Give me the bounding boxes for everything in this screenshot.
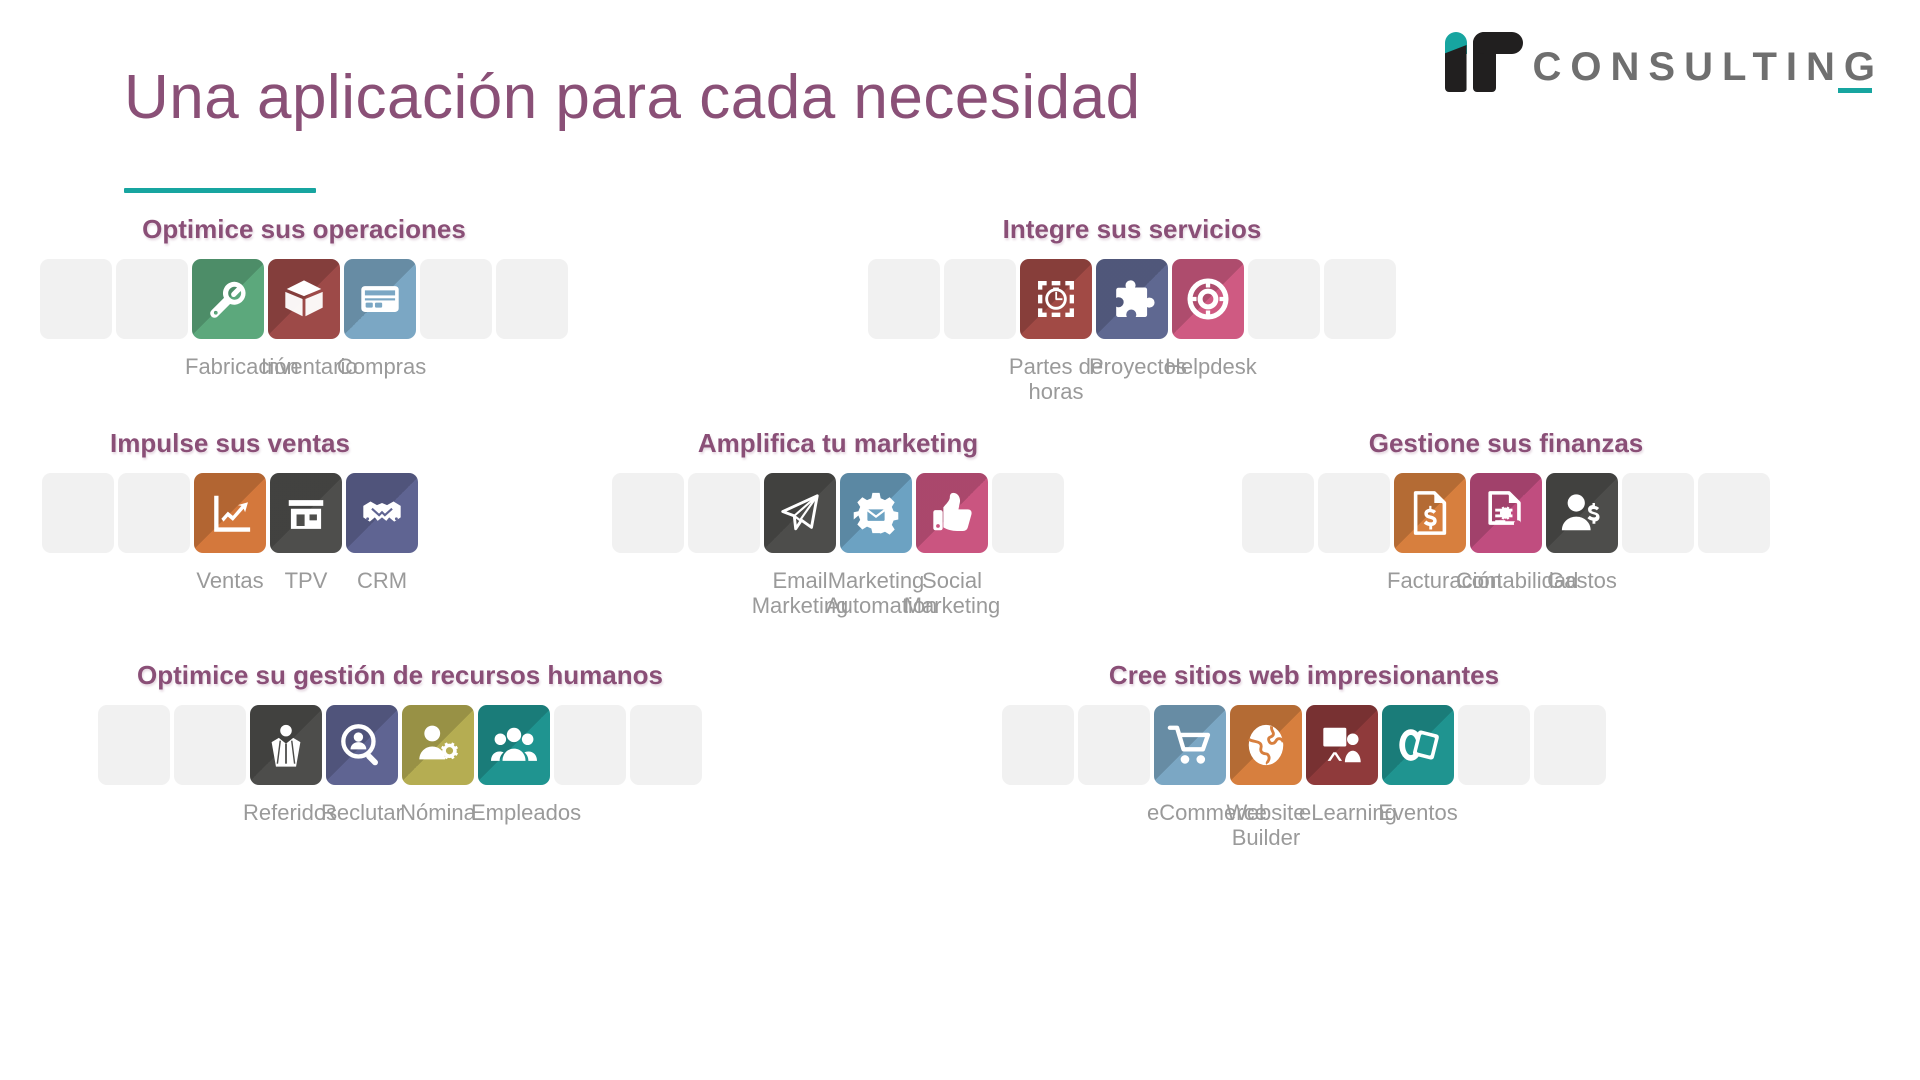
event-ticket-icon xyxy=(1395,722,1441,768)
placeholder-tile xyxy=(612,473,684,553)
app-tile-strip: Partes de horasProyectosHelpdesk xyxy=(866,259,1398,404)
placeholder-tile xyxy=(992,473,1064,553)
globe-icon xyxy=(1243,722,1289,768)
app-tile[interactable] xyxy=(1020,259,1092,339)
app-group: Integre sus serviciosPartes de horasProy… xyxy=(866,214,1398,404)
people-group-icon xyxy=(491,722,537,768)
app-cell[interactable]: Reclutar xyxy=(324,705,400,826)
app-cell[interactable]: Social Marketing xyxy=(914,473,990,618)
app-cell[interactable]: CRM xyxy=(344,473,420,594)
app-group: Gestione sus finanzasFacturaciónContabil… xyxy=(1240,428,1772,594)
group-title: Impulse sus ventas xyxy=(40,428,420,459)
placeholder-tile-cell xyxy=(628,705,704,785)
placeholder-tile-cell xyxy=(1696,473,1772,553)
placeholder-tile xyxy=(496,259,568,339)
app-cell[interactable]: TPV xyxy=(268,473,344,594)
app-label: Fabricación xyxy=(185,355,271,380)
app-tile-strip: FabricaciónInventarioCompras xyxy=(38,259,570,380)
group-title: Optimice sus operaciones xyxy=(38,214,570,245)
app-cell[interactable]: Fabricación xyxy=(190,259,266,380)
app-group: Impulse sus ventasVentasTPVCRM xyxy=(40,428,420,594)
person-search-icon xyxy=(339,722,385,768)
app-group: Amplifica tu marketingEmail MarketingMar… xyxy=(610,428,1066,618)
placeholder-tile-cell xyxy=(1076,705,1152,785)
app-cell[interactable]: Nómina xyxy=(400,705,476,826)
app-label: Empleados xyxy=(471,801,557,826)
wrench-icon xyxy=(205,276,251,322)
app-tile[interactable] xyxy=(268,259,340,339)
app-group: Cree sitios web impresionanteseCommerceW… xyxy=(1000,660,1608,850)
app-cell[interactable]: Inventario xyxy=(266,259,342,380)
app-tile[interactable] xyxy=(1230,705,1302,785)
thumbs-up-icon xyxy=(929,490,975,536)
placeholder-tile-cell xyxy=(1246,259,1322,339)
app-label: Eventos xyxy=(1375,801,1461,826)
page-title: Una aplicación para cada necesidad xyxy=(124,62,1141,133)
logo-underline-accent xyxy=(1838,88,1872,93)
life-ring-icon xyxy=(1185,276,1231,322)
app-tile[interactable] xyxy=(916,473,988,553)
placeholder-tile-cell xyxy=(1240,473,1316,553)
app-label: Social Marketing xyxy=(902,569,1002,618)
placeholder-tile xyxy=(420,259,492,339)
app-tile[interactable] xyxy=(250,705,322,785)
placeholder-tile-cell xyxy=(114,259,190,339)
person-gear-icon xyxy=(415,722,461,768)
app-tile-strip: eCommerceWebsite BuildereLearningEventos xyxy=(1000,705,1608,850)
app-tile[interactable] xyxy=(326,705,398,785)
growth-chart-icon xyxy=(207,490,253,536)
placeholder-tile xyxy=(174,705,246,785)
app-label: Nómina xyxy=(395,801,481,826)
logo-wordmark: CONSULTING xyxy=(1533,48,1884,92)
placeholder-tile-cell xyxy=(418,259,494,339)
person-dollar-icon xyxy=(1559,490,1605,536)
placeholder-tile-cell xyxy=(610,473,686,553)
app-label: Compras xyxy=(337,355,423,380)
app-label: CRM xyxy=(339,569,425,594)
app-tile[interactable] xyxy=(270,473,342,553)
group-title: Gestione sus finanzas xyxy=(1240,428,1772,459)
placeholder-tile-cell xyxy=(1620,473,1696,553)
placeholder-tile xyxy=(116,259,188,339)
app-cell[interactable]: Website Builder xyxy=(1228,705,1304,850)
app-tile[interactable] xyxy=(1306,705,1378,785)
handshake-icon xyxy=(359,490,405,536)
placeholder-tile xyxy=(118,473,190,553)
placeholder-tile-cell xyxy=(40,473,116,553)
placeholder-tile-cell xyxy=(686,473,762,553)
placeholder-tile xyxy=(1698,473,1770,553)
app-tile[interactable] xyxy=(764,473,836,553)
app-tile[interactable] xyxy=(1172,259,1244,339)
placeholder-tile xyxy=(1534,705,1606,785)
invoice-dollar-icon xyxy=(1407,490,1453,536)
app-label: Inventario xyxy=(261,355,347,380)
placeholder-tile-cell xyxy=(1322,259,1398,339)
placeholder-tile xyxy=(98,705,170,785)
logo-t-top xyxy=(1473,32,1523,54)
app-tile[interactable] xyxy=(194,473,266,553)
app-group: Optimice sus operacionesFabricaciónInven… xyxy=(38,214,570,380)
document-gear-icon xyxy=(1483,490,1529,536)
group-title: Amplifica tu marketing xyxy=(610,428,1066,459)
shop-front-icon xyxy=(283,490,329,536)
stopwatch-frame-icon xyxy=(1033,276,1079,322)
app-cell[interactable]: Gastos xyxy=(1544,473,1620,594)
app-tile[interactable] xyxy=(1096,259,1168,339)
app-label: TPV xyxy=(263,569,349,594)
app-label: Gastos xyxy=(1539,569,1625,594)
app-cell[interactable]: Eventos xyxy=(1380,705,1456,826)
placeholder-tile xyxy=(630,705,702,785)
placeholder-tile-cell xyxy=(1532,705,1608,785)
app-cell[interactable]: Referidos xyxy=(248,705,324,826)
placeholder-tile-cell xyxy=(38,259,114,339)
app-tile[interactable] xyxy=(346,473,418,553)
placeholder-tile xyxy=(554,705,626,785)
group-title: Integre sus servicios xyxy=(866,214,1398,245)
app-tile-strip: ReferidosReclutarNóminaEmpleados xyxy=(96,705,704,826)
placeholder-tile xyxy=(40,259,112,339)
app-label: Helpdesk xyxy=(1165,355,1251,380)
app-label: Reclutar xyxy=(319,801,405,826)
app-label: eLearning xyxy=(1299,801,1385,826)
app-label: Referidos xyxy=(243,801,329,826)
credit-card-icon xyxy=(357,276,403,322)
app-tile[interactable] xyxy=(1154,705,1226,785)
placeholder-tile xyxy=(944,259,1016,339)
gear-envelope-icon xyxy=(853,490,899,536)
app-tile[interactable] xyxy=(840,473,912,553)
paper-plane-icon xyxy=(777,490,823,536)
placeholder-tile xyxy=(42,473,114,553)
placeholder-tile-cell xyxy=(96,705,172,785)
it-logo-mark xyxy=(1443,28,1523,92)
placeholder-tile xyxy=(1458,705,1530,785)
app-cell[interactable]: Compras xyxy=(342,259,418,380)
app-tile[interactable] xyxy=(1546,473,1618,553)
app-tile[interactable] xyxy=(192,259,264,339)
app-cell[interactable]: eLearning xyxy=(1304,705,1380,826)
app-label: Proyectos xyxy=(1089,355,1175,380)
app-cell[interactable]: Empleados xyxy=(476,705,552,826)
app-tile[interactable] xyxy=(1382,705,1454,785)
superhero-cape-icon xyxy=(263,722,309,768)
placeholder-tile-cell xyxy=(990,473,1066,553)
placeholder-tile xyxy=(1324,259,1396,339)
app-tile[interactable] xyxy=(402,705,474,785)
placeholder-tile xyxy=(688,473,760,553)
placeholder-tile-cell xyxy=(942,259,1018,339)
placeholder-tile xyxy=(1622,473,1694,553)
placeholder-tile-cell xyxy=(172,705,248,785)
app-tile[interactable] xyxy=(344,259,416,339)
app-tile[interactable] xyxy=(1470,473,1542,553)
app-cell[interactable]: Proyectos xyxy=(1094,259,1170,380)
placeholder-tile xyxy=(1242,473,1314,553)
app-cell[interactable]: Partes de horas xyxy=(1018,259,1094,404)
group-title: Cree sitios web impresionantes xyxy=(1000,660,1608,691)
shopping-cart-icon xyxy=(1167,722,1213,768)
whiteboard-icon xyxy=(1319,722,1365,768)
open-box-icon xyxy=(281,276,327,322)
placeholder-tile xyxy=(868,259,940,339)
app-label: Ventas xyxy=(187,569,273,594)
placeholder-tile xyxy=(1318,473,1390,553)
logo-wordmark-text: CONSULTING xyxy=(1533,45,1884,89)
app-tile[interactable] xyxy=(478,705,550,785)
app-tile-strip: Email MarketingMarketing AutomationSocia… xyxy=(610,473,1066,618)
app-tile-strip: VentasTPVCRM xyxy=(40,473,420,594)
placeholder-tile-cell xyxy=(494,259,570,339)
app-cell[interactable]: Contabilidad xyxy=(1468,473,1544,594)
brand-logo: CONSULTING xyxy=(1443,18,1884,92)
app-tile[interactable] xyxy=(1394,473,1466,553)
placeholder-tile-cell xyxy=(1316,473,1392,553)
placeholder-tile xyxy=(1078,705,1150,785)
placeholder-tile-cell xyxy=(866,259,942,339)
app-cell[interactable]: Helpdesk xyxy=(1170,259,1246,380)
app-cell[interactable]: Ventas xyxy=(192,473,268,594)
placeholder-tile-cell xyxy=(116,473,192,553)
placeholder-tile xyxy=(1248,259,1320,339)
group-title: Optimice su gestión de recursos humanos xyxy=(96,660,704,691)
title-accent-rule xyxy=(124,188,316,193)
placeholder-tile xyxy=(1002,705,1074,785)
puzzle-piece-icon xyxy=(1109,276,1155,322)
placeholder-tile-cell xyxy=(1456,705,1532,785)
placeholder-tile-cell xyxy=(552,705,628,785)
app-group: Optimice su gestión de recursos humanosR… xyxy=(96,660,704,826)
placeholder-tile-cell xyxy=(1000,705,1076,785)
app-tile-strip: FacturaciónContabilidadGastos xyxy=(1240,473,1772,594)
